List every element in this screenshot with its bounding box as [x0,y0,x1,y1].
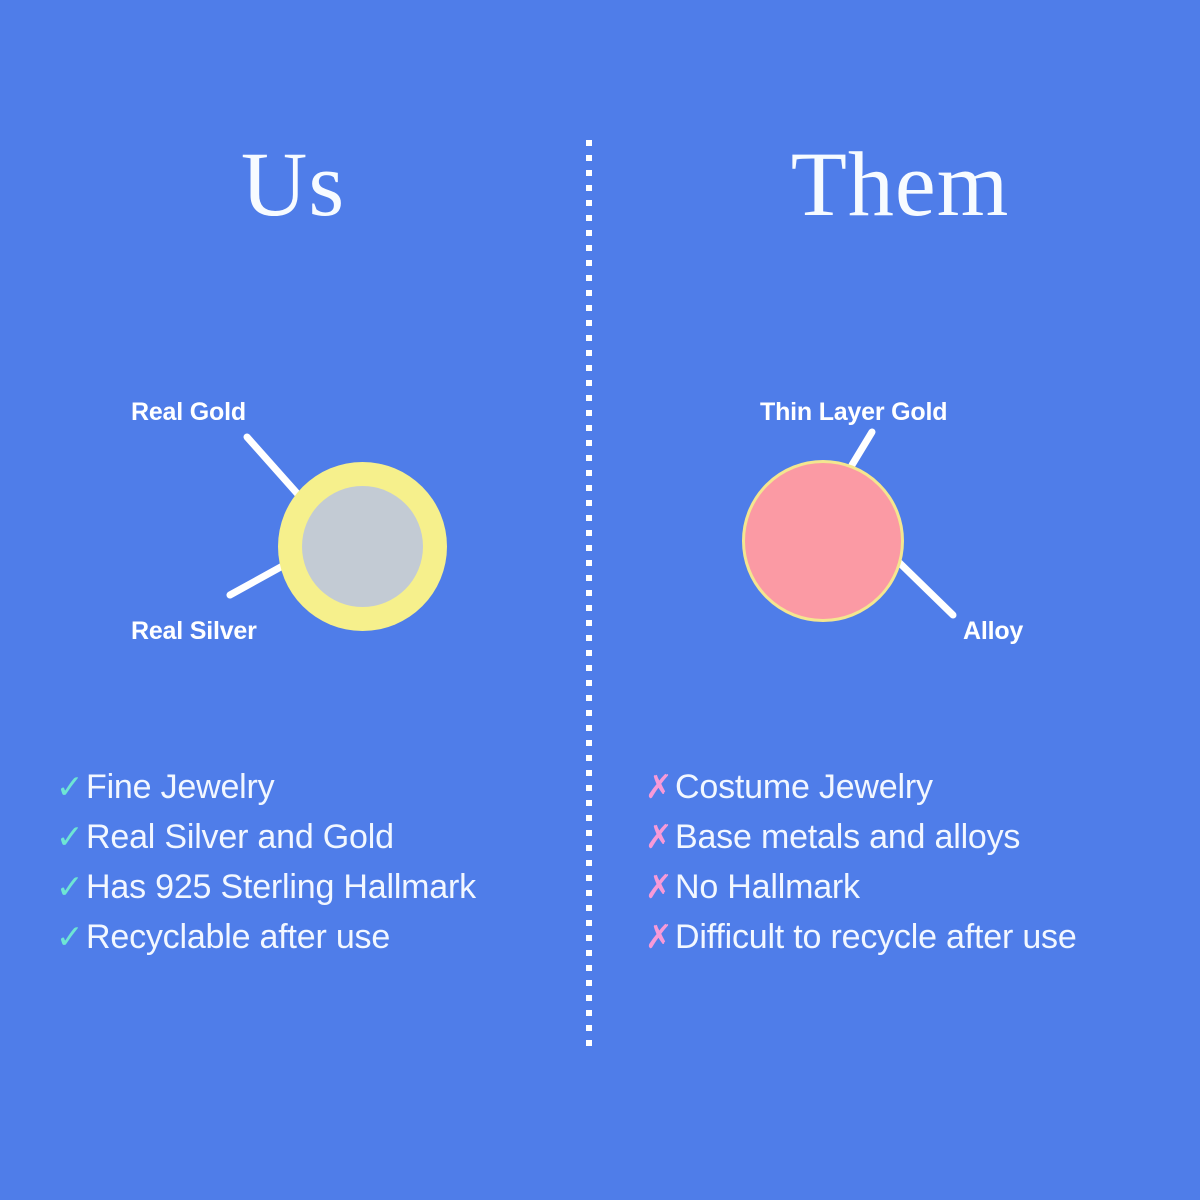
infographic-canvas: Us Real Gold Real Silver ✓ Fine Jewelry … [0,0,1200,1200]
feature-list-us: ✓ Fine Jewelry ✓ Real Silver and Gold ✓ … [56,768,476,968]
list-item-label: Has 925 Sterling Hallmark [86,868,476,907]
silver-core-shape [302,486,423,607]
list-item-label: Difficult to recycle after use [675,918,1077,957]
list-item-label: Fine Jewelry [86,768,274,807]
list-item-label: Recyclable after use [86,918,390,957]
diagram-them: Thin Layer Gold Alloy [600,380,1200,670]
list-item-label: Costume Jewelry [675,768,933,807]
cross-icon: ✗ [645,870,675,903]
list-item: ✗ Costume Jewelry [645,768,1077,818]
feature-list-them: ✗ Costume Jewelry ✗ Base metals and allo… [645,768,1077,968]
callout-label-real-gold: Real Gold [131,398,246,427]
list-item: ✗ No Hallmark [645,868,1077,918]
callout-label-alloy: Alloy [963,617,1023,646]
check-icon: ✓ [56,920,86,953]
page-title-them: Them [600,136,1200,233]
diagram-us: Real Gold Real Silver [0,380,586,670]
list-item: ✗ Base metals and alloys [645,818,1077,868]
callout-label-thin-layer-gold: Thin Layer Gold [760,398,947,427]
list-item: ✓ Has 925 Sterling Hallmark [56,868,476,918]
list-item: ✗ Difficult to recycle after use [645,918,1077,968]
list-item: ✓ Recyclable after use [56,918,476,968]
list-item-label: Real Silver and Gold [86,818,394,857]
check-icon: ✓ [56,770,86,803]
check-icon: ✓ [56,820,86,853]
list-item: ✓ Fine Jewelry [56,768,476,818]
cross-icon: ✗ [645,920,675,953]
gold-ring-shape [278,462,447,631]
list-item: ✓ Real Silver and Gold [56,818,476,868]
vertical-dotted-divider [586,140,592,1055]
list-item-label: Base metals and alloys [675,818,1020,857]
check-icon: ✓ [56,870,86,903]
alloy-circle-shape [742,460,904,622]
cross-icon: ✗ [645,770,675,803]
list-item-label: No Hallmark [675,868,860,907]
cross-icon: ✗ [645,820,675,853]
callout-label-real-silver: Real Silver [131,617,257,646]
page-title-us: Us [0,136,586,233]
